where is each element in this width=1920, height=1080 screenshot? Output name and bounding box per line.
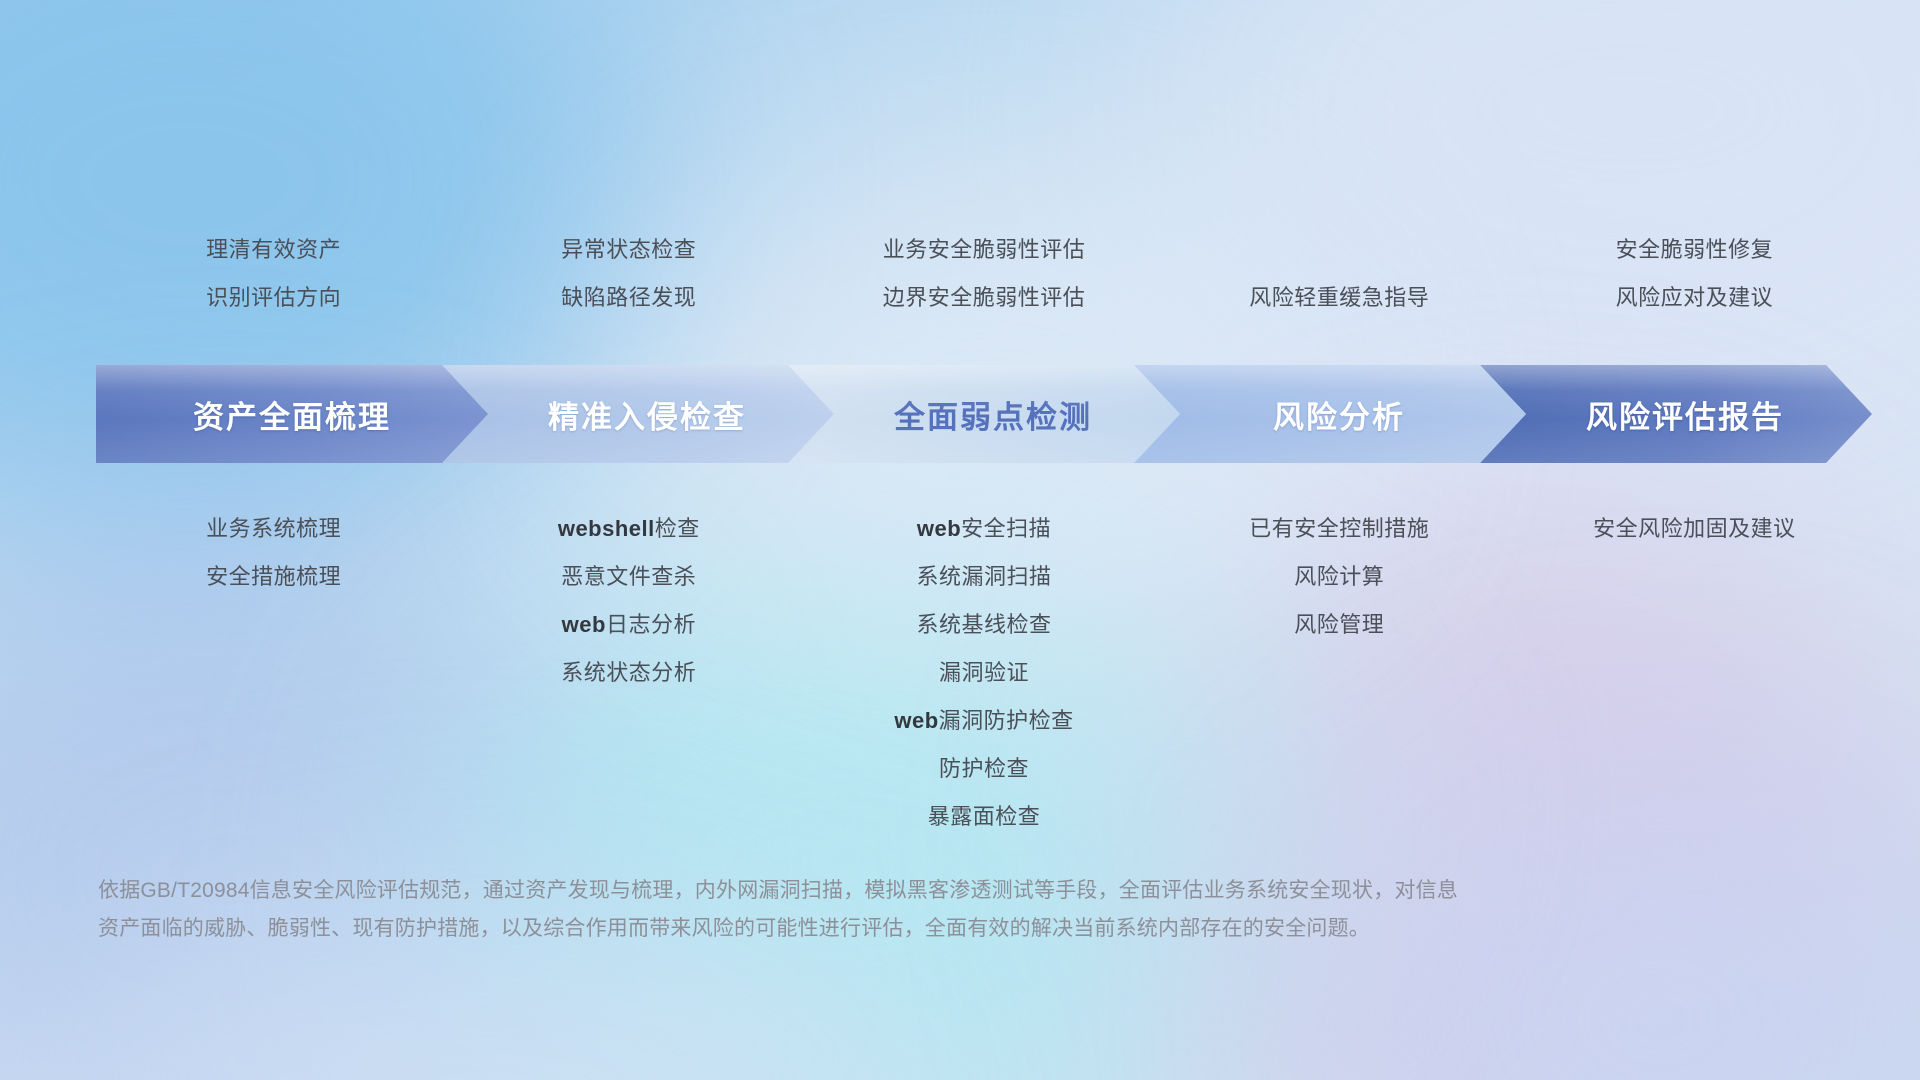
footer-line: 依据GB/T20984信息安全风险评估规范，通过资产发现与梳理，内外网漏洞扫描，… (98, 872, 1738, 910)
activity-line: 安全风险加固及建议 (1517, 505, 1872, 553)
stage-outputs-risk-analysis: 风险轻重缓急指导 (1162, 274, 1517, 322)
stage-chevron-asset-inventory[interactable]: 资产全面梳理 (96, 365, 488, 463)
stage-activities-intrusion-check: webshell检查恶意文件查杀web日志分析系统状态分析 (451, 505, 806, 697)
output-line: 异常状态检查 (451, 226, 806, 274)
activity-line: 恶意文件查杀 (451, 553, 806, 601)
stage-activities-risk-analysis: 已有安全控制措施风险计算风险管理 (1162, 505, 1517, 649)
stage-title: 风险评估报告 (1568, 392, 1784, 437)
stage-outputs-assessment-report: 安全脆弱性修复 风险应对及建议 (1517, 226, 1872, 322)
output-line: 风险应对及建议 (1517, 274, 1872, 322)
output-line: 业务安全脆弱性评估 (806, 226, 1161, 274)
output-line: 风险轻重缓急指导 (1162, 274, 1517, 322)
activity-line: web安全扫描 (806, 505, 1161, 553)
stage-outputs-row: 理清有效资产 识别评估方向 异常状态检查 缺陷路径发现 业务安全脆弱性评估 边界… (96, 226, 1872, 322)
activity-line: 系统基线检查 (806, 601, 1161, 649)
activity-line: 系统状态分析 (451, 649, 806, 697)
stage-chevron-weakness-detection[interactable]: 全面弱点检测 (788, 365, 1180, 463)
activity-line: webshell检查 (451, 505, 806, 553)
activity-line: web漏洞防护检查 (806, 697, 1161, 745)
activity-line: 暴露面检查 (806, 793, 1161, 841)
stage-title: 资产全面梳理 (193, 392, 391, 437)
stage-chevron-risk-analysis[interactable]: 风险分析 (1134, 365, 1526, 463)
activity-line: web日志分析 (451, 601, 806, 649)
activity-line: 已有安全控制措施 (1162, 505, 1517, 553)
process-diagram: 理清有效资产 识别评估方向 异常状态检查 缺陷路径发现 业务安全脆弱性评估 边界… (0, 0, 1920, 1080)
output-line: 边界安全脆弱性评估 (806, 274, 1161, 322)
footer-description: 依据GB/T20984信息安全风险评估规范，通过资产发现与梳理，内外网漏洞扫描，… (98, 872, 1738, 948)
stage-chevron-assessment-report[interactable]: 风险评估报告 (1480, 365, 1872, 463)
stage-outputs-intrusion-check: 异常状态检查 缺陷路径发现 (451, 226, 806, 322)
activity-line: 安全措施梳理 (96, 553, 451, 601)
activity-line: 风险管理 (1162, 601, 1517, 649)
stage-activities-assessment-report: 安全风险加固及建议 (1517, 505, 1872, 553)
footer-line: 资产面临的威胁、脆弱性、现有防护措施，以及综合作用而带来风险的可能性进行评估，全… (98, 910, 1738, 948)
output-line: 缺陷路径发现 (451, 274, 806, 322)
activity-line: 业务系统梳理 (96, 505, 451, 553)
process-chevron-band: 资产全面梳理 精准入侵检查 全面弱点检测 风险分析 风险评估报告 (96, 365, 1872, 463)
output-line: 安全脆弱性修复 (1517, 226, 1872, 274)
activity-line: 防护检查 (806, 745, 1161, 793)
stage-activities-row: 业务系统梳理安全措施梳理 webshell检查恶意文件查杀web日志分析系统状态… (96, 505, 1872, 841)
activity-line: 系统漏洞扫描 (806, 553, 1161, 601)
stage-outputs-asset-inventory: 理清有效资产 识别评估方向 (96, 226, 451, 322)
stage-title: 全面弱点检测 (876, 392, 1092, 437)
stage-title: 精准入侵检查 (530, 392, 746, 437)
stage-activities-weakness-detection: web安全扫描系统漏洞扫描系统基线检查漏洞验证web漏洞防护检查防护检查暴露面检… (806, 505, 1161, 841)
stage-chevron-intrusion-check[interactable]: 精准入侵检查 (442, 365, 834, 463)
output-line: 识别评估方向 (96, 274, 451, 322)
stage-activities-asset-inventory: 业务系统梳理安全措施梳理 (96, 505, 451, 601)
stage-title: 风险分析 (1255, 392, 1405, 437)
activity-line: 漏洞验证 (806, 649, 1161, 697)
activity-line: 风险计算 (1162, 553, 1517, 601)
stage-outputs-weakness-detection: 业务安全脆弱性评估 边界安全脆弱性评估 (806, 226, 1161, 322)
output-line: 理清有效资产 (96, 226, 451, 274)
